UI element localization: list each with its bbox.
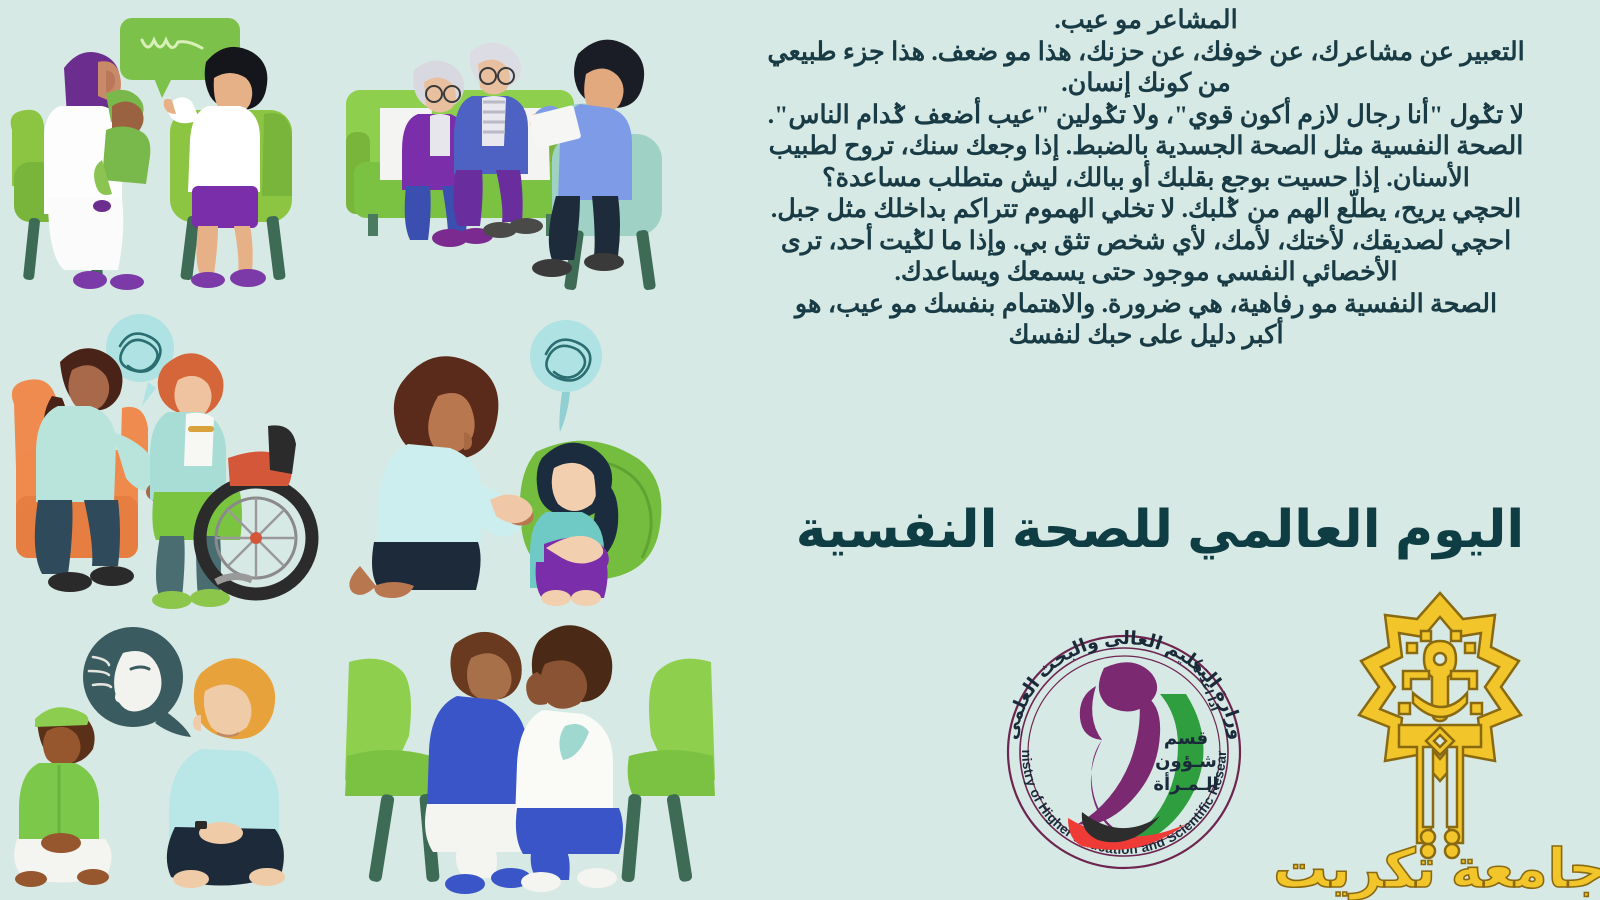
thought-bubble-tangled-scribble xyxy=(530,320,602,432)
poster-canvas: المشاعر مو عيب. التعبير عن مشاعرك، عن خو… xyxy=(0,0,1600,900)
panel-adult-child-beanbag xyxy=(330,300,690,605)
figure-child xyxy=(530,443,618,606)
page-title: اليوم العالمي للصحة النفسية xyxy=(750,500,1570,560)
figure-distressed xyxy=(515,625,623,892)
panel-mother-child-counselor xyxy=(2,10,332,300)
body-line-11: أكبر دليل على حبك لنفسك xyxy=(706,319,1586,351)
ministry-logo: وزارة التعليم العالي والبحث العلمي Minis… xyxy=(990,620,1258,878)
body-line-8: احچي لصديقك، لأختك، لأمك، لأي شخص تثق بي… xyxy=(706,225,1586,257)
panel-elderly-couple-therapist xyxy=(340,12,685,297)
body-line-2: التعبير عن مشاعرك، عن خوفك، عن حزنك، هذا… xyxy=(706,36,1586,68)
body-line-3: من كونك إنسان. xyxy=(706,67,1586,99)
body-line-10: الصحة النفسية مو رفاهية، هي ضرورة. والاه… xyxy=(706,288,1586,320)
figure-man-meditating xyxy=(167,658,285,888)
body-line-6: الأسنان. إذا حسيت بوجع بقلبك أو ببالك، ل… xyxy=(706,162,1586,194)
panel-wheelchair-support xyxy=(0,300,330,610)
department-line-3: الـمـرأة xyxy=(1153,772,1218,795)
figure-boy-meditating xyxy=(14,707,111,887)
body-line-5: الصحة النفسية مثل الصحة الجسدية بالضبط. … xyxy=(706,130,1586,162)
department-line-2: شـؤون xyxy=(1155,751,1217,772)
body-line-4: لا تݣول "أنا رجال لازم أكون قوي"، ولا تݣ… xyxy=(706,99,1586,131)
body-line-1: المشاعر مو عيب. xyxy=(706,4,1586,36)
body-text-block: المشاعر مو عيب. التعبير عن مشاعرك، عن خو… xyxy=(706,4,1586,351)
figure-wheelchair-user xyxy=(150,353,242,609)
department-line-1: قسم xyxy=(1164,728,1208,748)
figure-adult xyxy=(349,356,536,598)
university-name: جامعة تكريت xyxy=(1273,839,1600,900)
woman-figure-icon xyxy=(1078,662,1160,838)
illustration-collage xyxy=(0,0,720,900)
logo-row: وزارة التعليم العالي والبحث العلمي Minis… xyxy=(960,575,1590,900)
panel-meditation-breathing xyxy=(5,615,335,900)
speech-bubble-breathing-face xyxy=(83,627,191,737)
panel-two-men-chairs xyxy=(345,608,715,900)
tikrit-emblem-icon xyxy=(1359,593,1521,858)
body-line-7: الحچي يريح، يطلّع الهم من ݣلبك. لا تخلي … xyxy=(706,193,1586,225)
chair-green-left xyxy=(345,659,440,883)
body-line-9: الأخصائي النفسي موجود حتى يسمعك ويساعدك. xyxy=(706,256,1586,288)
chair-green-right xyxy=(621,659,715,883)
university-logo: جامعة تكريت xyxy=(1295,575,1585,900)
